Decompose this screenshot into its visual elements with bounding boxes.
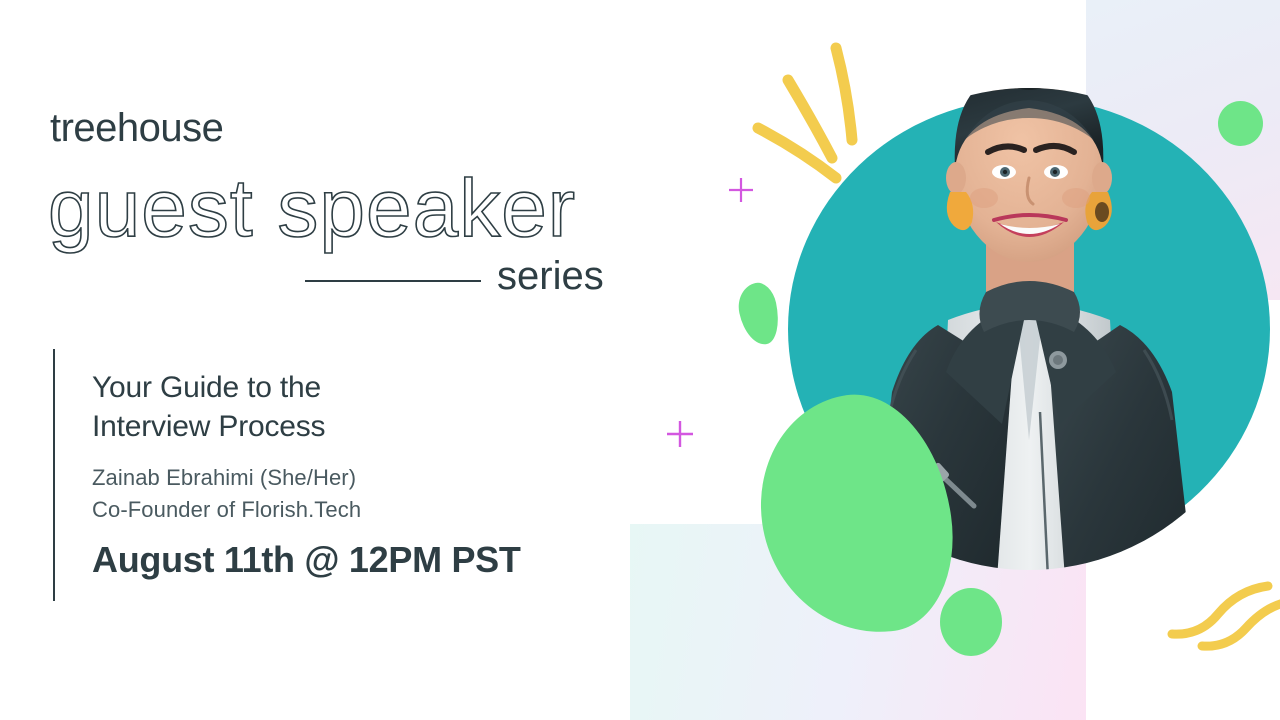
- accent-rule: [53, 349, 55, 601]
- speaker-role: Co-Founder of Florish.Tech: [92, 494, 632, 526]
- decor-blob-dot-bottom: [940, 588, 1002, 656]
- brand-wordmark: treehouse: [50, 108, 223, 148]
- series-divider: [305, 280, 481, 282]
- event-details: Your Guide to the Interview Process Zain…: [92, 368, 632, 579]
- plus-icon: [664, 418, 696, 450]
- speaker-name: Zainab Ebrahimi (She/Her): [92, 462, 632, 494]
- event-datetime: August 11th @ 12PM PST: [92, 540, 632, 580]
- yellow-rays-icon: [740, 30, 880, 200]
- talk-title-line1: Your Guide to the: [92, 371, 321, 404]
- talk-title: Your Guide to the Interview Process: [92, 368, 632, 446]
- decor-blob-small: [734, 280, 784, 349]
- series-label: series: [497, 256, 604, 296]
- yellow-squiggles-icon: [1160, 570, 1280, 680]
- headline-text: guest speaker: [48, 163, 576, 254]
- headline-outline: guest speaker: [44, 160, 664, 260]
- decor-blob-dot-top: [1218, 101, 1263, 146]
- promo-graphic: treehouse guest speaker series Your Guid…: [0, 0, 1280, 720]
- talk-title-line2: Interview Process: [92, 410, 325, 443]
